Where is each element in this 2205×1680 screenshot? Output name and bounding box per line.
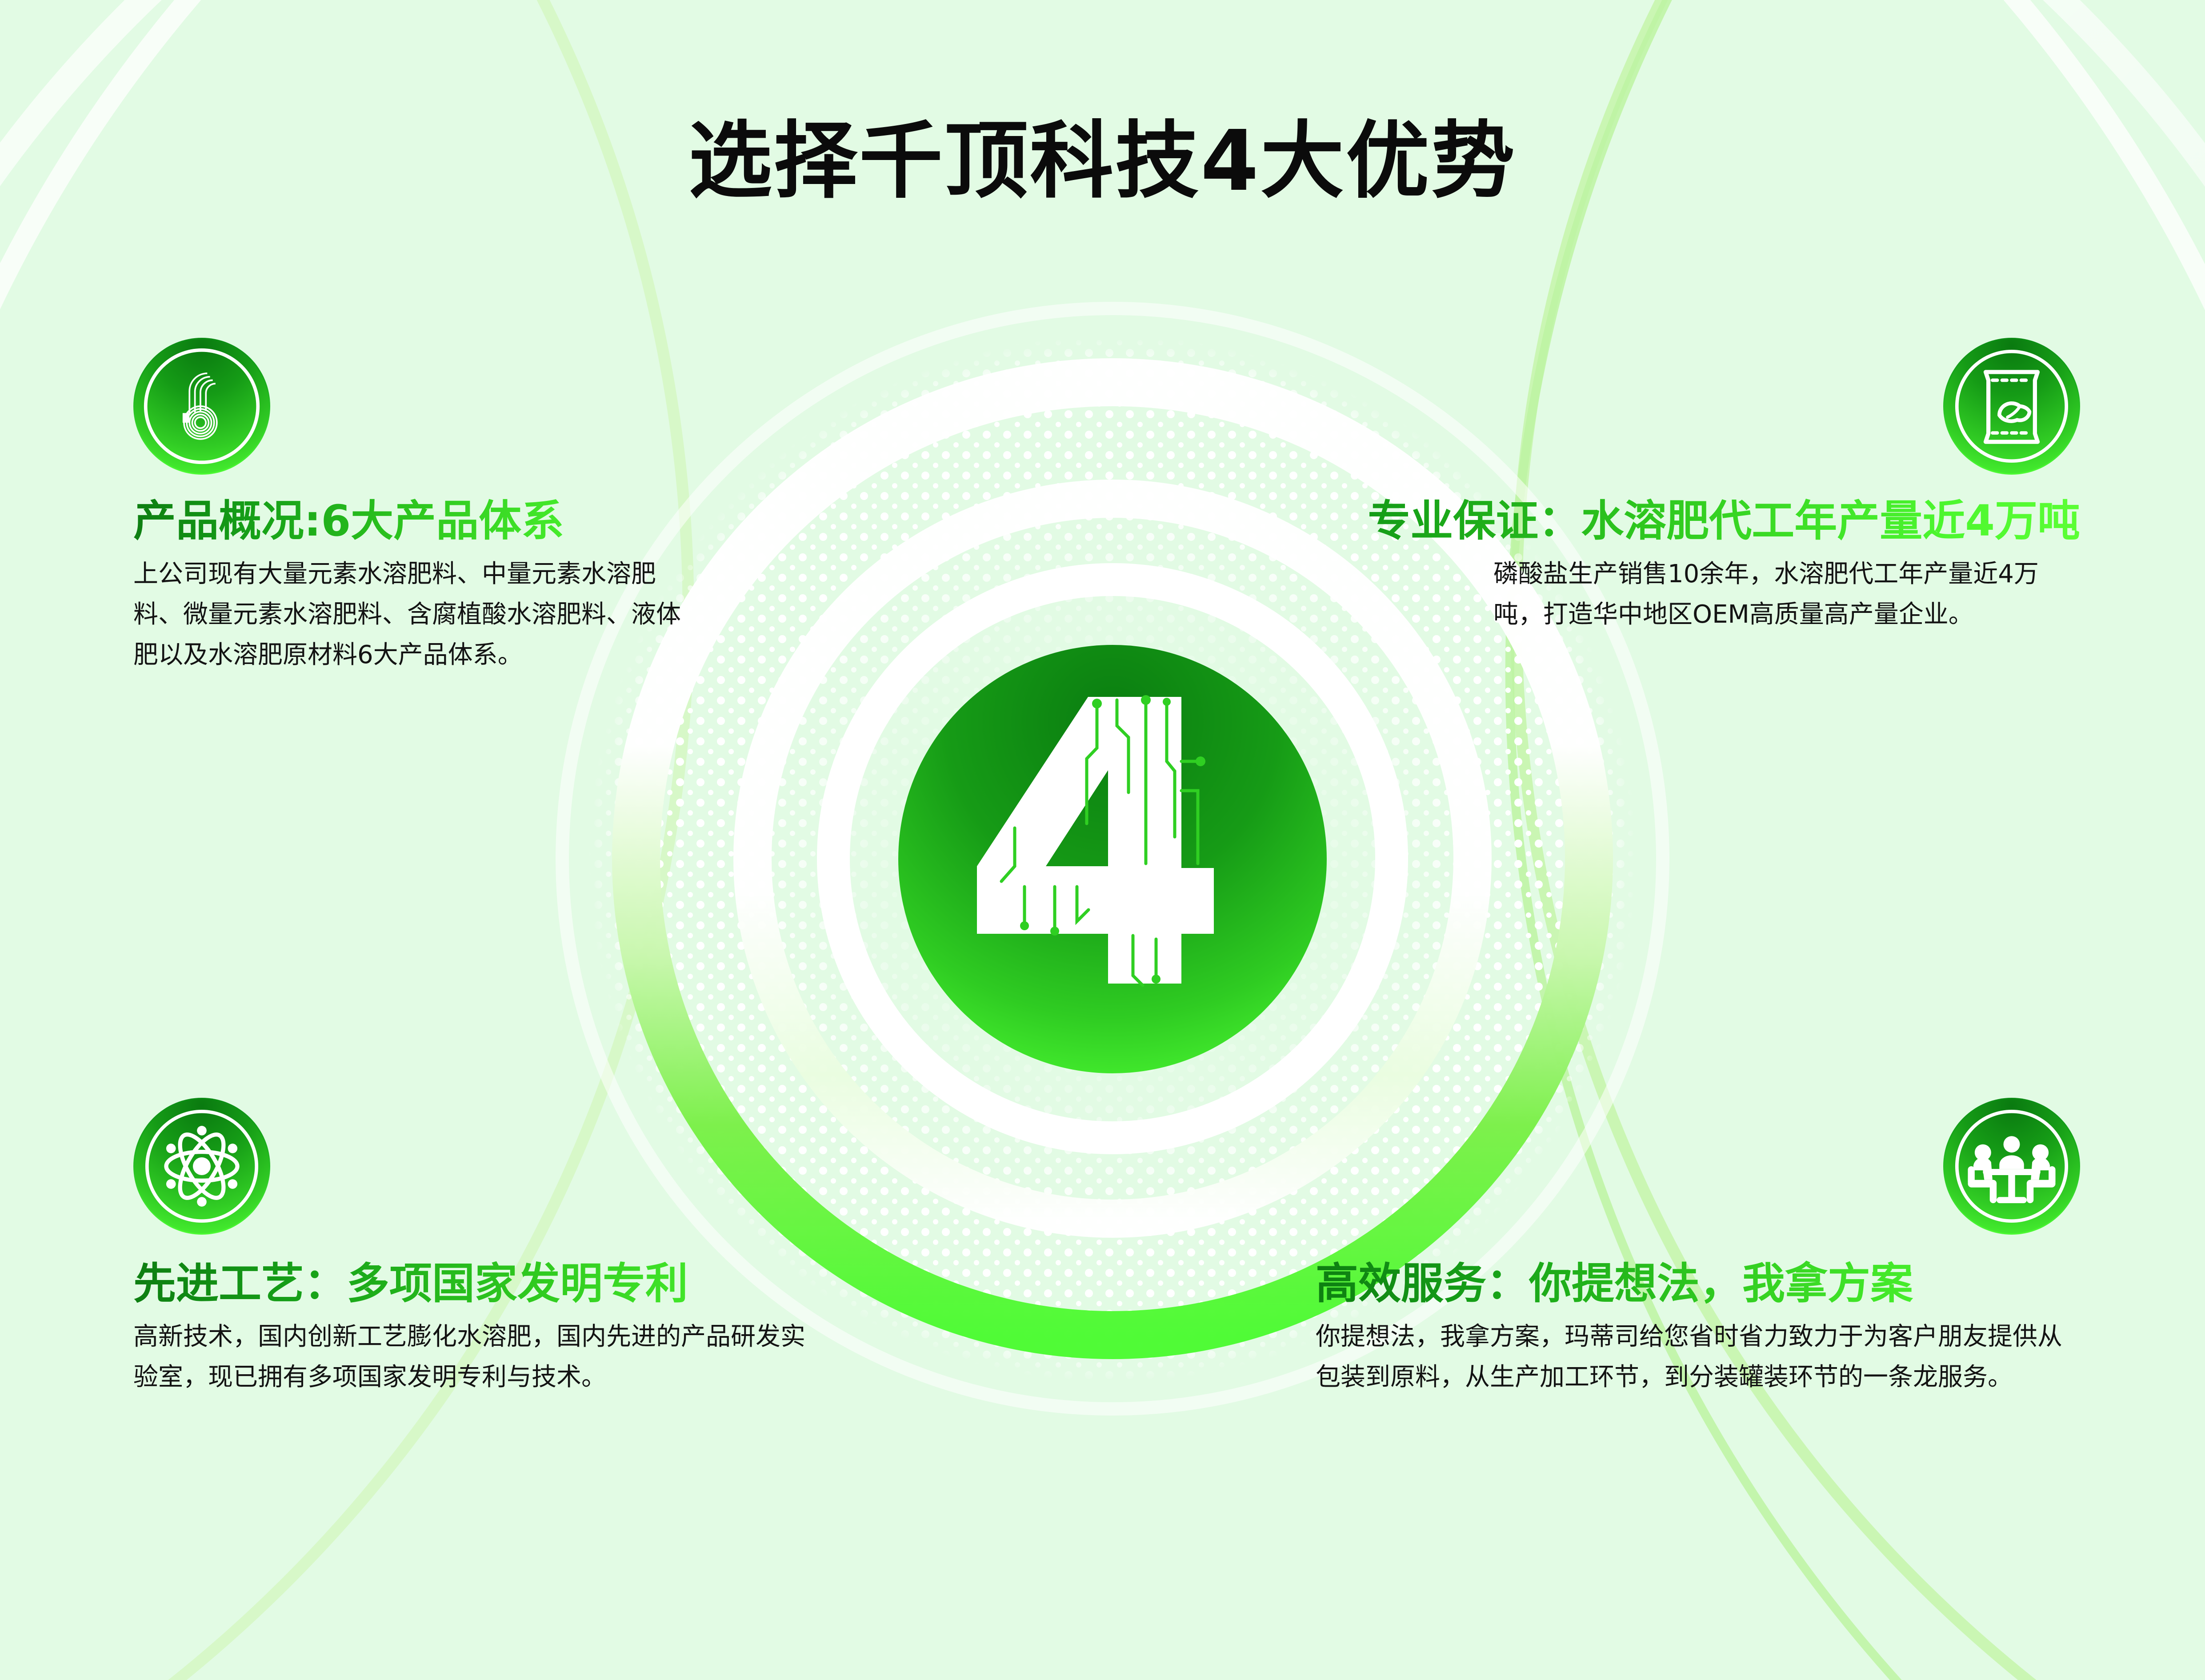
advantage-body: 高新技术，国内创新工艺膨化水溶肥，国内先进的产品研发实验室，现已拥有多项国家发明… [133,1317,827,1397]
center-number-emblem [868,615,1357,1104]
advantage-heading: 先进工艺：多项国家发明专利 [133,1258,898,1310]
advantage-body: 上公司现有大量元素水溶肥料、中量元素水溶肥料、微量元素水溶肥料、含腐植酸水溶肥料… [133,554,693,675]
meeting-people-icon [1943,1098,2080,1235]
fertilizer-bag-icon [1943,338,2080,475]
advantage-block-professional-guarantee: 专业保证：水溶肥代工年产量近4万吨 磷酸盐生产销售10余年，水溶肥代工年产量近4… [1200,338,2080,635]
infographic-canvas: 选择千顶科技4大优势 [0,0,2205,1680]
advantage-block-efficient-service: 高效服务：你提想法，我拿方案 你提想法，我拿方案，玛蒂司给您省时省力致力于为客户… [1316,1098,2080,1398]
center-four-graphic [868,615,1357,1104]
advantage-block-product-overview: 产品概况:6大产品体系 上公司现有大量元素水溶肥料、中量元素水溶肥料、微量元素水… [133,338,693,675]
advantage-block-advanced-process: 先进工艺：多项国家发明专利 高新技术，国内创新工艺膨化水溶肥，国内先进的产品研发… [133,1098,898,1398]
advantage-body: 磷酸盐生产销售10余年，水溶肥代工年产量近4万吨，打造华中地区OEM高质量高产量… [1493,554,2080,635]
advantage-heading: 高效服务：你提想法，我拿方案 [1316,1258,2080,1310]
advantage-body: 你提想法，我拿方案，玛蒂司给您省时省力致力于为客户朋友提供从包装到原料，从生产加… [1316,1317,2071,1397]
advantage-heading: 产品概况:6大产品体系 [133,495,693,547]
number-six-ring-icon [133,338,270,475]
atom-icon [133,1098,270,1235]
advantage-heading: 专业保证：水溶肥代工年产量近4万吨 [1200,495,2080,547]
page-title: 选择千顶科技4大优势 [0,93,2205,214]
